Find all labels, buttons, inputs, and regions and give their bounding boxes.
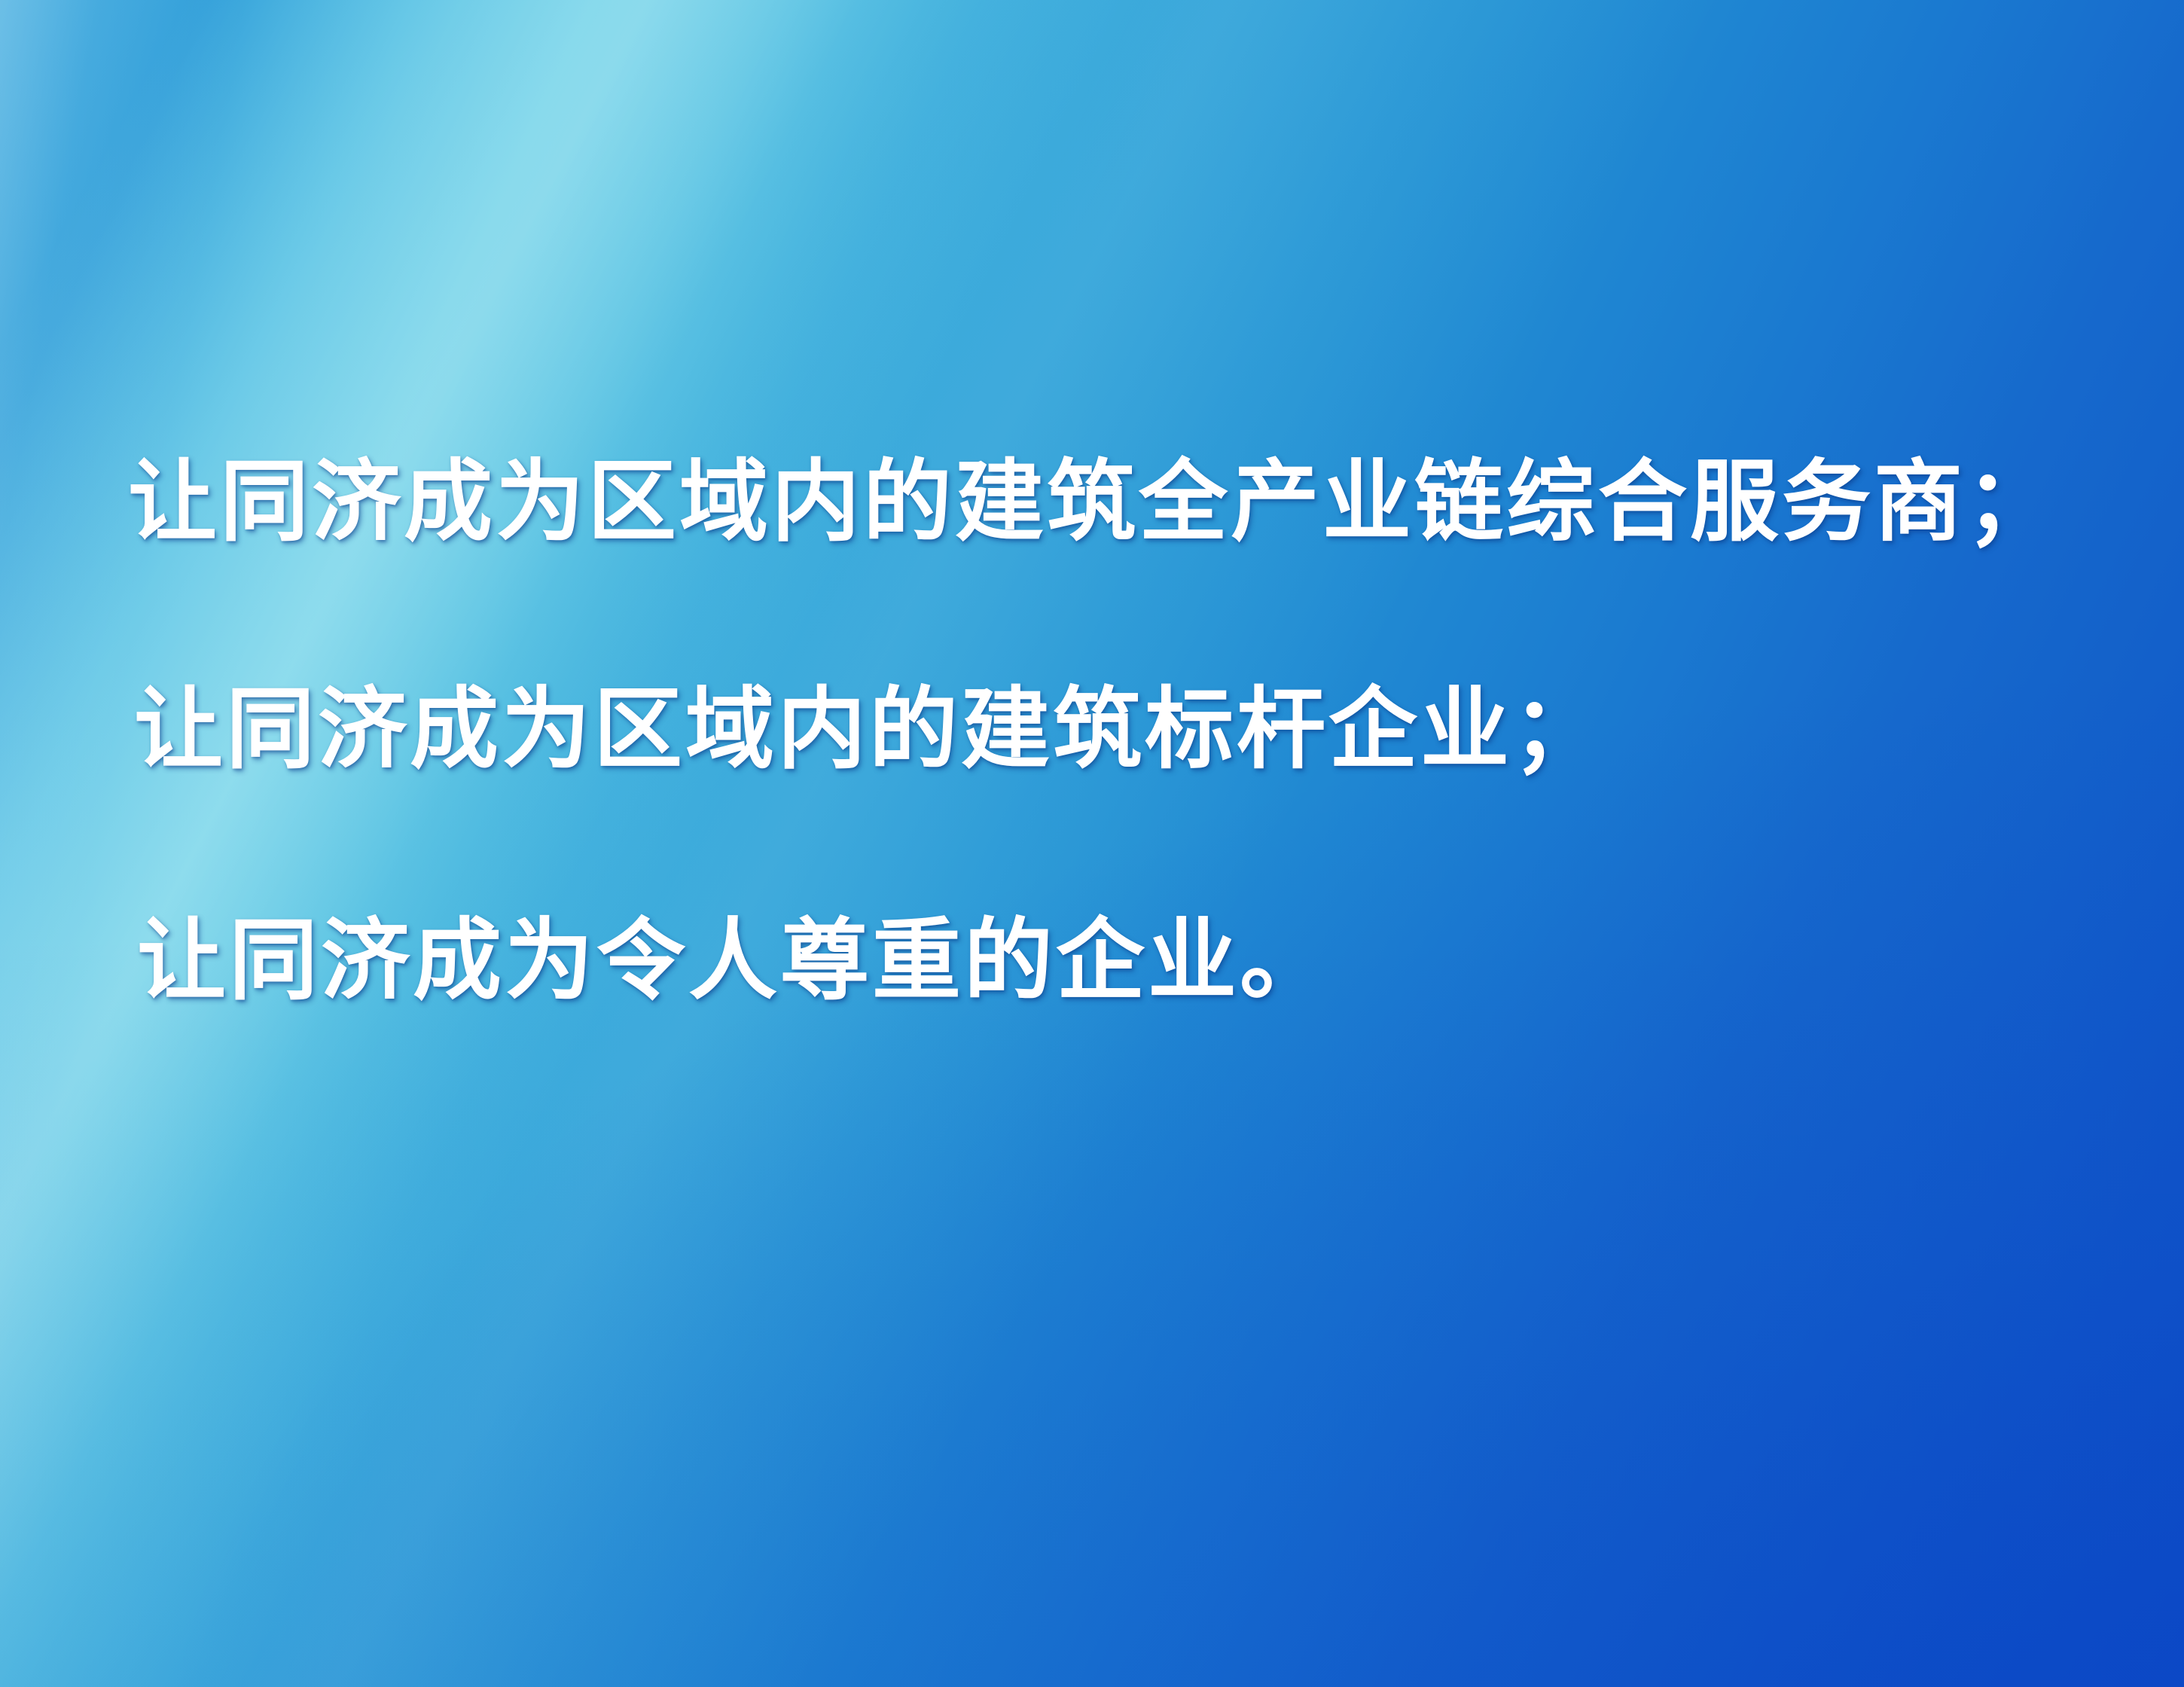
slide-text-line-3: 让同济成为令人尊重的企业。 — [137, 911, 2086, 1010]
slide-canvas: 让同济成为区域内的建筑全产业链综合服务商； 让同济成为区域内的建筑标杆企业； 让… — [0, 0, 2184, 1687]
slide-text-line-1: 让同济成为区域内的建筑全产业链综合服务商； — [128, 452, 2086, 551]
slide-text-line-2: 让同济成为区域内的建筑标杆企业； — [134, 679, 2086, 779]
slide-text-block: 让同济成为区域内的建筑全产业链综合服务商； 让同济成为区域内的建筑标杆企业； 让… — [128, 452, 2086, 1010]
